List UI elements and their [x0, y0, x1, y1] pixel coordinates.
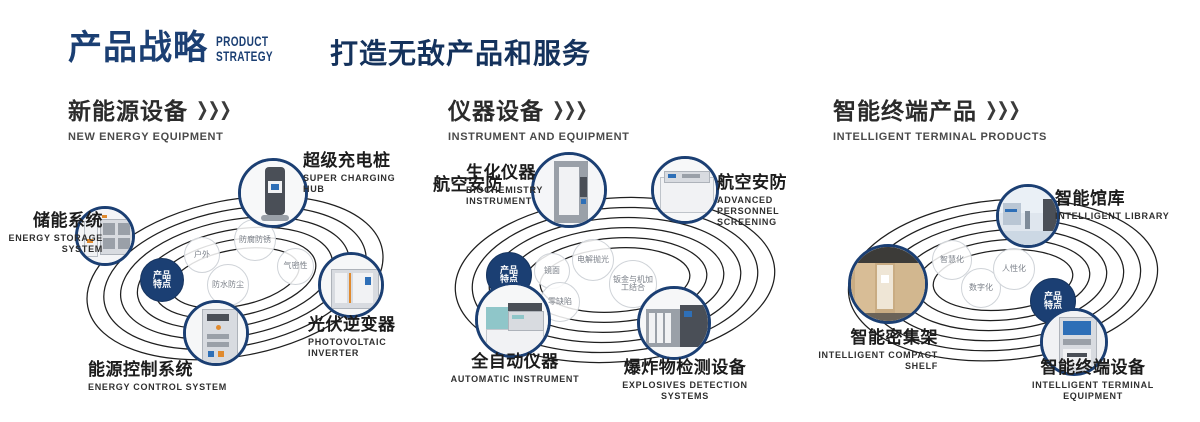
- chevron-right-icon: ❯❯❯: [985, 98, 1020, 121]
- control-system-image: [186, 303, 246, 363]
- section-heading-instrument: 仪器设备❯❯❯ INSTRUMENT AND EQUIPMENT: [448, 92, 629, 143]
- page-title-en: PRODUCT STRATEGY: [216, 34, 273, 64]
- feature-bubble: 人性化: [993, 248, 1035, 290]
- cluster-intelligent-terminal: 智慧化 数字化 人性化 产品特点: [818, 160, 1188, 390]
- node-energy-control-system[interactable]: [183, 300, 249, 366]
- library-image: [999, 187, 1057, 245]
- section-heading-intelligent-terminal: 智能终端产品❯❯❯ INTELLIGENT TERMINAL PRODUCTS: [833, 92, 1047, 143]
- label-cn: 超级充电桩: [303, 151, 415, 171]
- core-bubble-label: 产品特点: [1042, 292, 1065, 311]
- section-title-cn: 仪器设备: [448, 92, 544, 126]
- label-cn: 生化仪器: [466, 163, 543, 183]
- section-title-cn: 智能终端产品: [833, 92, 977, 126]
- section-title-en: INSTRUMENT AND EQUIPMENT: [448, 131, 629, 143]
- product-strategy-infographic: 产品战略 PRODUCT STRATEGY 打造无敌产品和服务 新能源设备❯❯❯…: [0, 0, 1200, 422]
- label-en: ENERGY CONTROL SYSTEM: [88, 382, 227, 393]
- page-header: 产品战略 PRODUCT STRATEGY 打造无敌产品和服务: [0, 0, 1200, 92]
- label-en: AUTOMATIC INSTRUMENT: [440, 374, 590, 385]
- node-intelligent-library[interactable]: [996, 184, 1060, 248]
- explosives-detection-image: [640, 289, 708, 357]
- screening-image: [654, 159, 716, 221]
- label-cn: 航空安防: [717, 173, 805, 193]
- page-subtitle: 打造无敌产品和服务: [330, 32, 591, 72]
- node-advanced-personnel-screening[interactable]: [651, 156, 719, 224]
- label-automatic-instrument: 全自动仪器 AUTOMATIC INSTRUMENT: [440, 352, 590, 385]
- label-cn: 智能密集架: [808, 328, 938, 348]
- label-en: INTELLIGENT COMPACT SHELF: [808, 350, 938, 372]
- label-cn: 能源控制系统: [88, 360, 227, 380]
- label-energy-control-system: 能源控制系统 ENERGY CONTROL SYSTEM: [88, 360, 227, 393]
- core-bubble: 产品特点: [140, 258, 184, 302]
- automatic-instrument-image: [478, 285, 548, 355]
- feature-bubble: 气密性: [277, 248, 314, 285]
- label-cn: 光伏逆变器: [308, 315, 415, 335]
- feature-bubble: 电解抛光: [572, 239, 614, 281]
- page-title-cn: 产品战略: [68, 28, 208, 68]
- core-bubble-label: 产品特点: [151, 271, 173, 290]
- section-title-en: NEW ENERGY EQUIPMENT: [68, 131, 231, 143]
- label-en: PHOTOVOLTAIC INVERTER: [308, 337, 415, 359]
- section-heading-new-energy: 新能源设备❯❯❯ NEW ENERGY EQUIPMENT: [68, 92, 231, 143]
- label-cn: 储能系统: [3, 211, 103, 231]
- label-intelligent-terminal-equipment: 智能终端设备 INTELLIGENT TERMINAL EQUIPMENT: [1008, 358, 1178, 402]
- label-advanced-personnel-screening: 航空安防 ADVANCED PERSONNEL SCREENING: [717, 173, 805, 228]
- section-title-en: INTELLIGENT TERMINAL PRODUCTS: [833, 131, 1047, 143]
- label-intelligent-library: 智能馆库 INTELLIGENT LIBRARY: [1055, 189, 1169, 222]
- label-en: EXPLOSIVES DETECTION SYSTEMS: [605, 380, 765, 402]
- chevron-right-icon: ❯❯❯: [196, 98, 231, 121]
- node-automatic-instrument[interactable]: [475, 282, 551, 358]
- label-cn: 爆炸物检测设备: [605, 358, 765, 378]
- biochemistry-image: [534, 155, 604, 225]
- charging-hub-image: [241, 161, 305, 225]
- label-cn: 智能馆库: [1055, 189, 1169, 209]
- label-intelligent-compact-shelf: 智能密集架 INTELLIGENT COMPACT SHELF: [808, 328, 938, 372]
- node-super-charging-hub[interactable]: [238, 158, 308, 228]
- chevron-right-icon: ❯❯❯: [552, 98, 587, 121]
- label-en: ADVANCED PERSONNEL SCREENING: [717, 195, 805, 228]
- label-explosives-detection: 爆炸物检测设备 EXPLOSIVES DETECTION SYSTEMS: [605, 358, 765, 402]
- label-en: INTELLIGENT LIBRARY: [1055, 211, 1169, 222]
- node-photovoltaic-inverter[interactable]: [318, 252, 384, 318]
- label-en: BIOCHEMISTRY INSTRUMENT: [466, 185, 543, 207]
- label-cn: 智能终端设备: [1008, 358, 1178, 378]
- compact-shelf-image: [851, 247, 925, 321]
- cluster-new-energy: 户外 防腐防锈 防水防尘 气密性 产品特点: [55, 160, 415, 390]
- section-title-cn: 新能源设备: [68, 92, 188, 126]
- inverter-image: [321, 255, 381, 315]
- label-en: INTELLIGENT TERMINAL EQUIPMENT: [1008, 380, 1178, 402]
- label-en: ENERGY STORAGE SYSTEM: [3, 233, 103, 255]
- label-cn: 全自动仪器: [440, 352, 590, 372]
- cluster-instrument: 镜面 电解抛光 零缺陷 钣金与机加工结合 产品特点: [425, 160, 805, 390]
- label-energy-storage: 储能系统 ENERGY STORAGE SYSTEM: [3, 211, 103, 255]
- node-explosives-detection[interactable]: [637, 286, 711, 360]
- node-intelligent-compact-shelf[interactable]: [848, 244, 928, 324]
- label-biochemistry-instrument: 生化仪器 BIOCHEMISTRY INSTRUMENT: [466, 163, 543, 207]
- label-photovoltaic-inverter: 光伏逆变器 PHOTOVOLTAIC INVERTER: [308, 315, 415, 359]
